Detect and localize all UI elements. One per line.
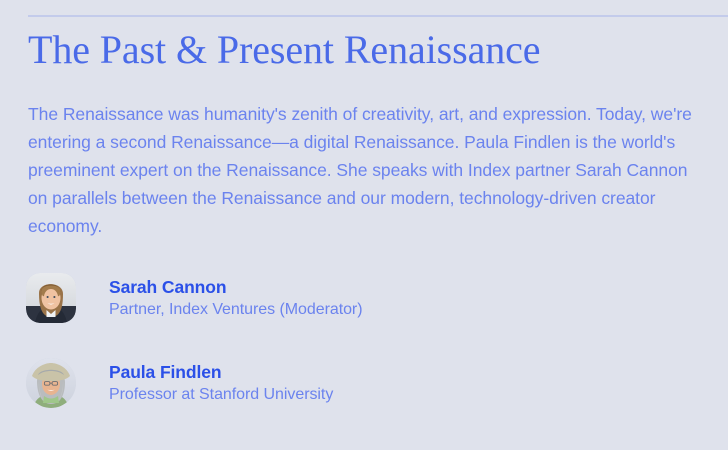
speaker-role: Partner, Index Ventures (Moderator) bbox=[109, 299, 363, 321]
speaker-details: Paula Findlen Professor at Stanford Univ… bbox=[109, 361, 333, 406]
speaker-role: Professor at Stanford University bbox=[109, 384, 333, 406]
speaker-photo-sarah-cannon-icon bbox=[26, 273, 76, 323]
speaker-name: Paula Findlen bbox=[109, 361, 333, 383]
speaker-photo-paula-findlen-icon bbox=[26, 358, 76, 408]
speaker-name: Sarah Cannon bbox=[109, 276, 363, 298]
avatar bbox=[26, 273, 76, 323]
session-description: The Renaissance was humanity's zenith of… bbox=[28, 100, 700, 240]
page-title: The Past & Present Renaissance bbox=[28, 26, 540, 74]
speaker-list: Sarah Cannon Partner, Index Ventures (Mo… bbox=[26, 270, 686, 440]
speaker-details: Sarah Cannon Partner, Index Ventures (Mo… bbox=[109, 276, 363, 321]
top-divider bbox=[28, 15, 728, 17]
session-card: The Past & Present Renaissance The Renai… bbox=[0, 0, 728, 450]
avatar bbox=[26, 358, 76, 408]
list-item[interactable]: Sarah Cannon Partner, Index Ventures (Mo… bbox=[26, 270, 686, 326]
list-item[interactable]: Paula Findlen Professor at Stanford Univ… bbox=[26, 355, 686, 411]
